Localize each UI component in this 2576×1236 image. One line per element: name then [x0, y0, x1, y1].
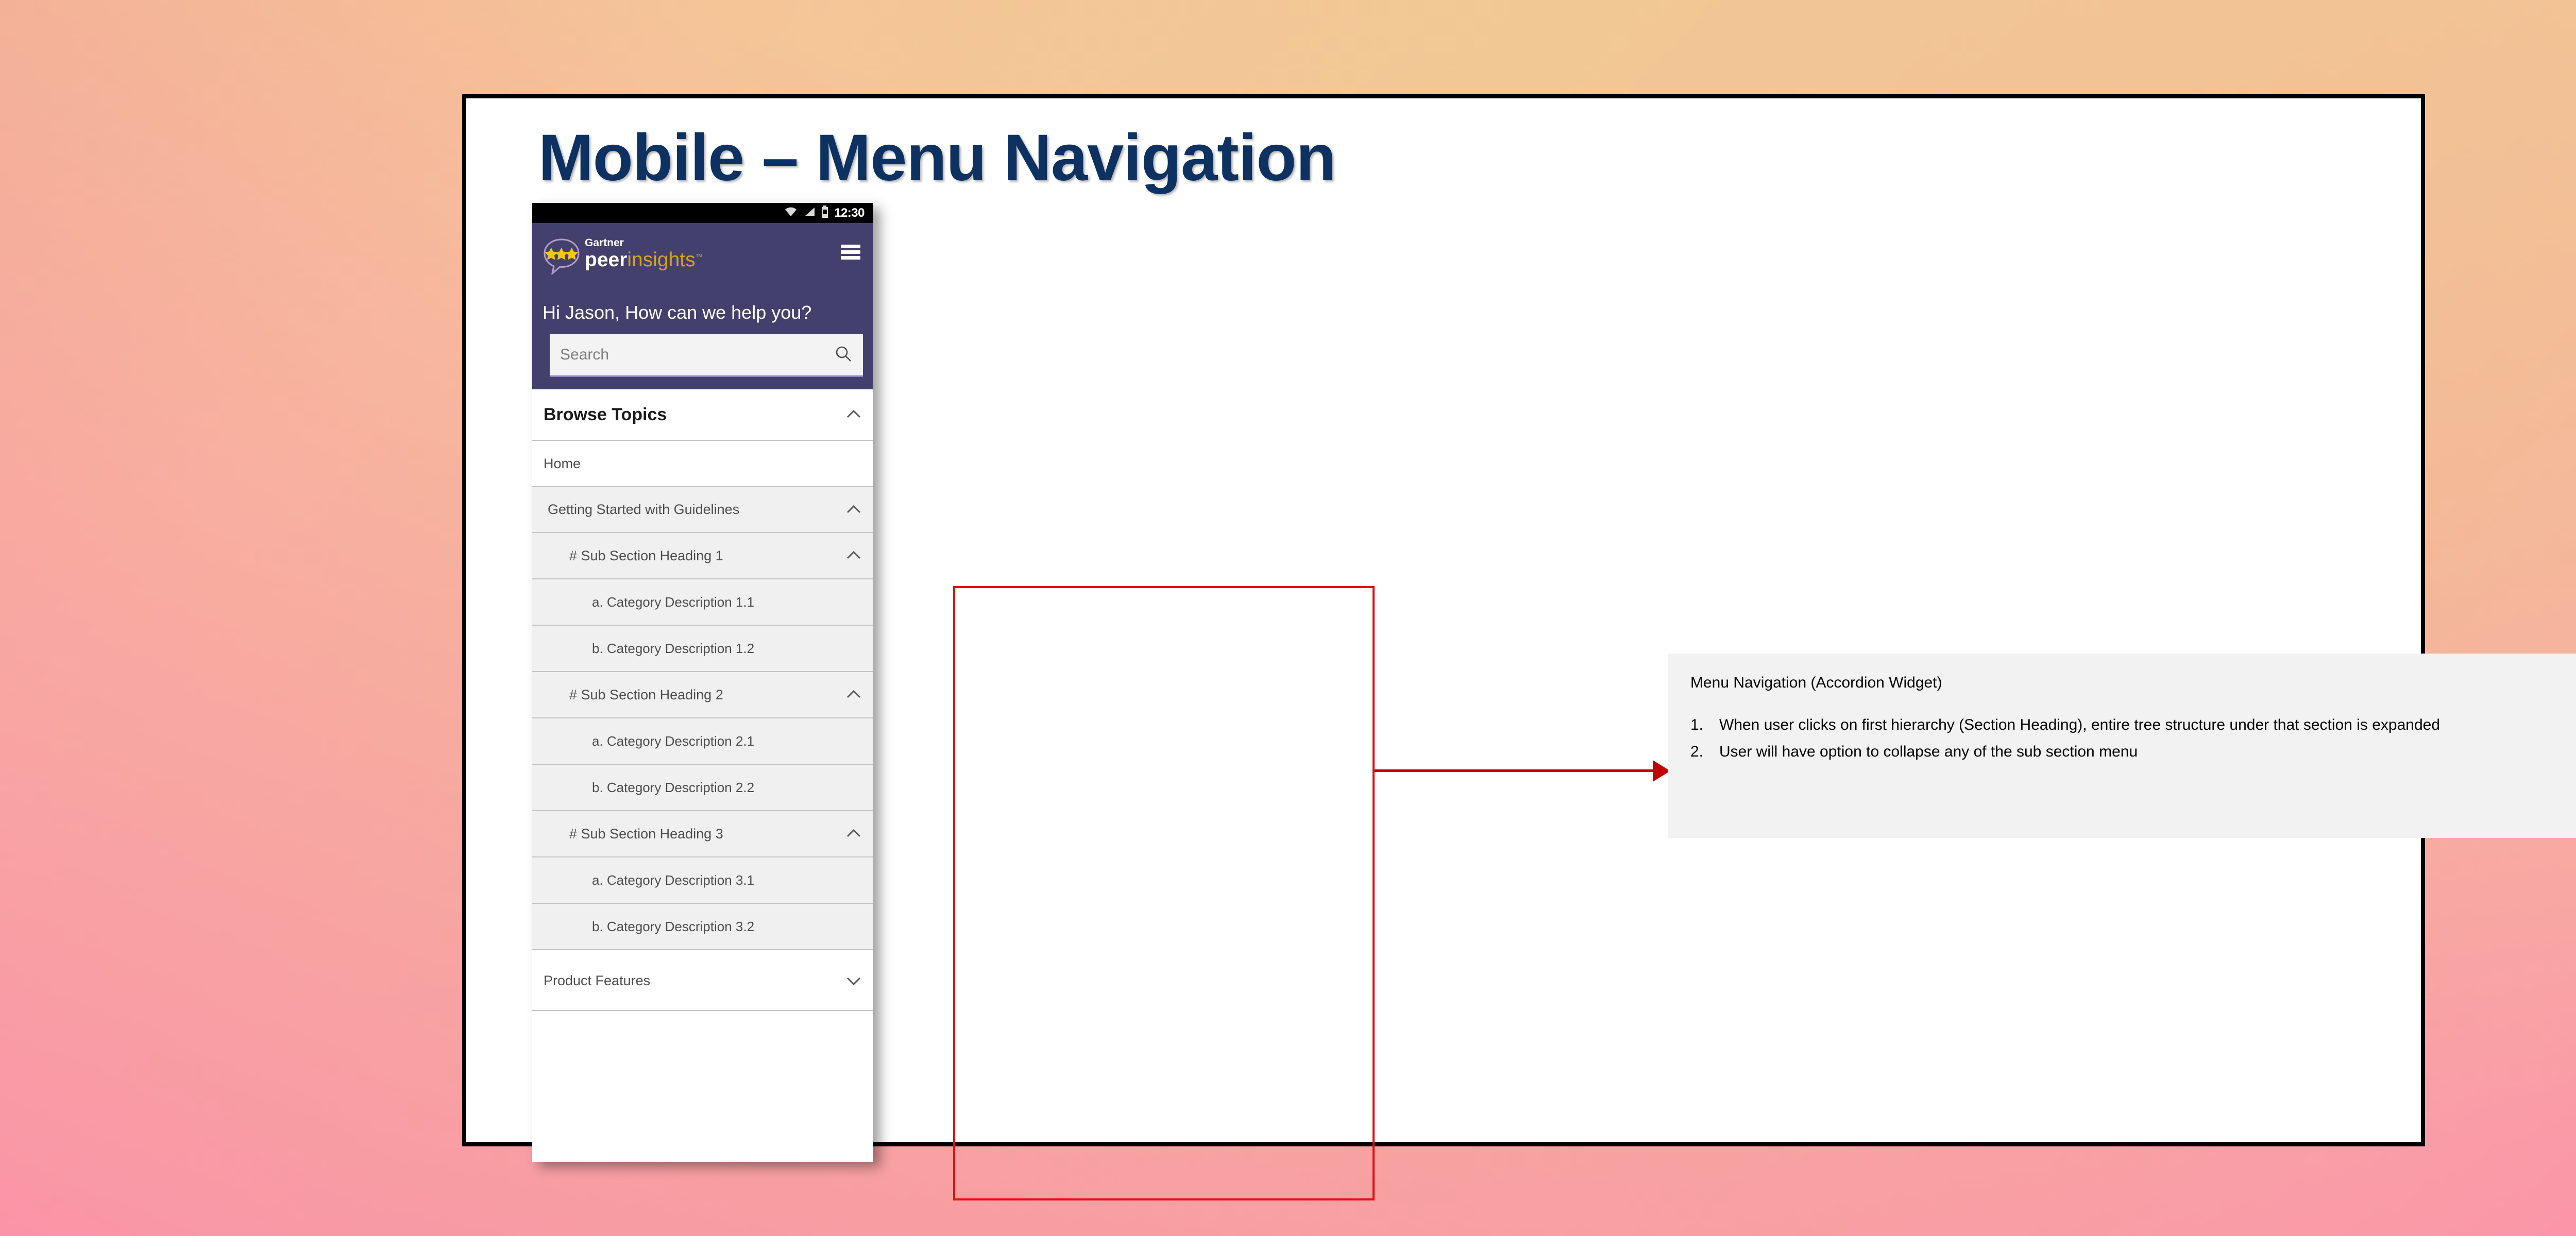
accordion-menu: Browse TopicsHomeGetting Started with Gu… — [532, 389, 873, 1011]
chevron-down-icon[interactable] — [842, 974, 866, 987]
menu-row-label: # Sub Section Heading 3 — [569, 827, 842, 841]
highlight-region-box — [953, 586, 1375, 1200]
menu-row-label: Product Features — [544, 974, 842, 988]
gartner-peer-insights-logo-icon — [541, 237, 582, 274]
logo-wordmark: Gartner peerinsights™ — [585, 237, 703, 270]
menu-row-label: b. Category Description 3.2 — [592, 920, 866, 933]
menu-row[interactable]: # Sub Section Heading 1 — [532, 533, 873, 579]
menu-row-label: # Sub Section Heading 2 — [569, 688, 842, 702]
callout-arrow-line — [1375, 769, 1662, 772]
callout-note-number: 2. — [1690, 744, 1719, 760]
menu-row[interactable]: a. Category Description 1.1 — [532, 579, 873, 626]
cellular-signal-icon — [803, 207, 816, 219]
app-header: Gartner peerinsights™ Hi Jason, How can … — [532, 223, 873, 389]
brand-row: Gartner peerinsights™ — [541, 234, 866, 279]
menu-row-label: a. Category Description 1.1 — [592, 595, 866, 609]
menu-row[interactable]: Browse Topics — [532, 389, 873, 441]
chevron-up-icon[interactable] — [842, 408, 866, 421]
logo-brand-text: Gartner — [585, 237, 703, 249]
menu-row-label: Browse Topics — [544, 406, 842, 423]
menu-row-label: b. Category Description 1.2 — [592, 642, 866, 655]
menu-row[interactable]: Product Features — [532, 950, 873, 1011]
chevron-up-icon[interactable] — [842, 549, 866, 562]
greeting-text: Hi Jason, How can we help you? — [543, 303, 811, 322]
callout-note-number: 1. — [1690, 717, 1719, 733]
chevron-up-icon[interactable] — [842, 503, 866, 517]
search-input[interactable]: Search — [550, 334, 863, 377]
hamburger-bar-1 — [841, 245, 860, 248]
logo-trademark: ™ — [696, 252, 703, 261]
menu-row-label: a. Category Description 2.1 — [592, 734, 866, 748]
callout-note-item: 2.User will have option to collapse any … — [1690, 744, 2576, 760]
menu-row[interactable]: a. Category Description 3.1 — [532, 857, 873, 904]
menu-row[interactable]: b. Category Description 1.2 — [532, 626, 873, 672]
menu-row-label: b. Category Description 2.2 — [592, 781, 866, 794]
callout-note-text: User will have option to collapse any of… — [1719, 744, 2138, 760]
chevron-up-icon[interactable] — [842, 827, 866, 840]
phone-mockup: 12:30 Gartner peerinsight — [532, 203, 873, 1162]
hamburger-bar-2 — [841, 250, 860, 254]
annotation-callout-panel: Menu Navigation (Accordion Widget) 1.Whe… — [1668, 654, 2576, 838]
menu-row-label: Home — [544, 457, 866, 471]
logo-product-text: peerinsights™ — [585, 250, 703, 270]
menu-row[interactable]: b. Category Description 2.2 — [532, 765, 873, 811]
menu-row[interactable]: # Sub Section Heading 3 — [532, 811, 873, 857]
slide-canvas: Mobile – Menu Navigation — [0, 0, 2576, 1236]
hamburger-bar-3 — [841, 256, 860, 260]
menu-row-label: a. Category Description 3.1 — [592, 873, 866, 887]
menu-row[interactable]: b. Category Description 3.2 — [532, 904, 873, 950]
callout-note-text: When user clicks on first hierarchy (Sec… — [1719, 717, 2440, 733]
status-bar-clock: 12:30 — [834, 207, 865, 219]
menu-row[interactable]: a. Category Description 2.1 — [532, 718, 873, 765]
chevron-up-icon[interactable] — [842, 688, 866, 701]
logo-insights-text: insights — [627, 249, 695, 271]
status-bar: 12:30 — [532, 203, 873, 223]
page-title: Mobile – Menu Navigation — [538, 120, 1336, 196]
callout-notes-list: 1.When user clicks on first hierarchy (S… — [1690, 717, 2576, 760]
wifi-icon — [784, 207, 798, 219]
search-icon[interactable] — [834, 345, 853, 366]
presentation-slide: Mobile – Menu Navigation — [462, 94, 2425, 1146]
battery-icon — [821, 205, 828, 220]
menu-row[interactable]: # Sub Section Heading 2 — [532, 672, 873, 718]
menu-row-label: Getting Started with Guidelines — [548, 503, 842, 517]
logo-peer-text: peer — [585, 249, 627, 271]
menu-row[interactable]: Home — [532, 441, 873, 487]
callout-note-item: 1.When user clicks on first hierarchy (S… — [1690, 717, 2576, 733]
search-placeholder-text: Search — [560, 347, 834, 363]
hamburger-menu-icon[interactable] — [841, 245, 860, 260]
menu-row-label: # Sub Section Heading 1 — [569, 549, 842, 563]
menu-row[interactable]: Getting Started with Guidelines — [532, 487, 873, 533]
callout-title: Menu Navigation (Accordion Widget) — [1690, 675, 2576, 691]
